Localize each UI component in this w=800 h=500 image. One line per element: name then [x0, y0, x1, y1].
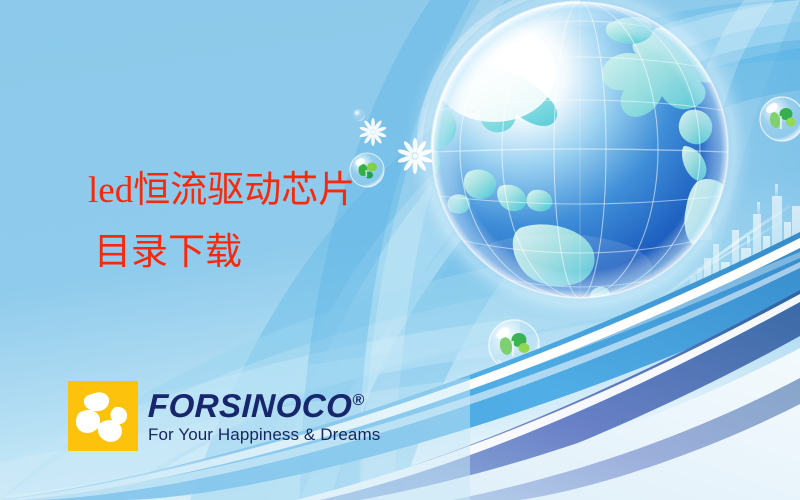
forsinoco-pinwheel-mark: [68, 381, 138, 451]
pinwheel-icon: [68, 381, 138, 451]
brand-name: FORSINOCO®: [147, 389, 380, 422]
logo-wordmark: FORSINOCO® For Your Happiness & Dreams: [148, 389, 380, 443]
bubble-tiny: [353, 109, 365, 121]
bubble-small-upper: [350, 153, 384, 187]
brand-logo[interactable]: FORSINOCO® For Your Happiness & Dreams: [68, 381, 380, 451]
banner-root: led恒流驱动芯片 目录下载 FORSINOCO® For: [0, 0, 800, 500]
registered-trademark-icon: ®: [352, 392, 364, 409]
brand-tagline: For Your Happiness & Dreams: [148, 426, 380, 443]
brand-name-text: FORSINOCO: [147, 387, 353, 424]
bubble-right-edge: [760, 97, 800, 141]
